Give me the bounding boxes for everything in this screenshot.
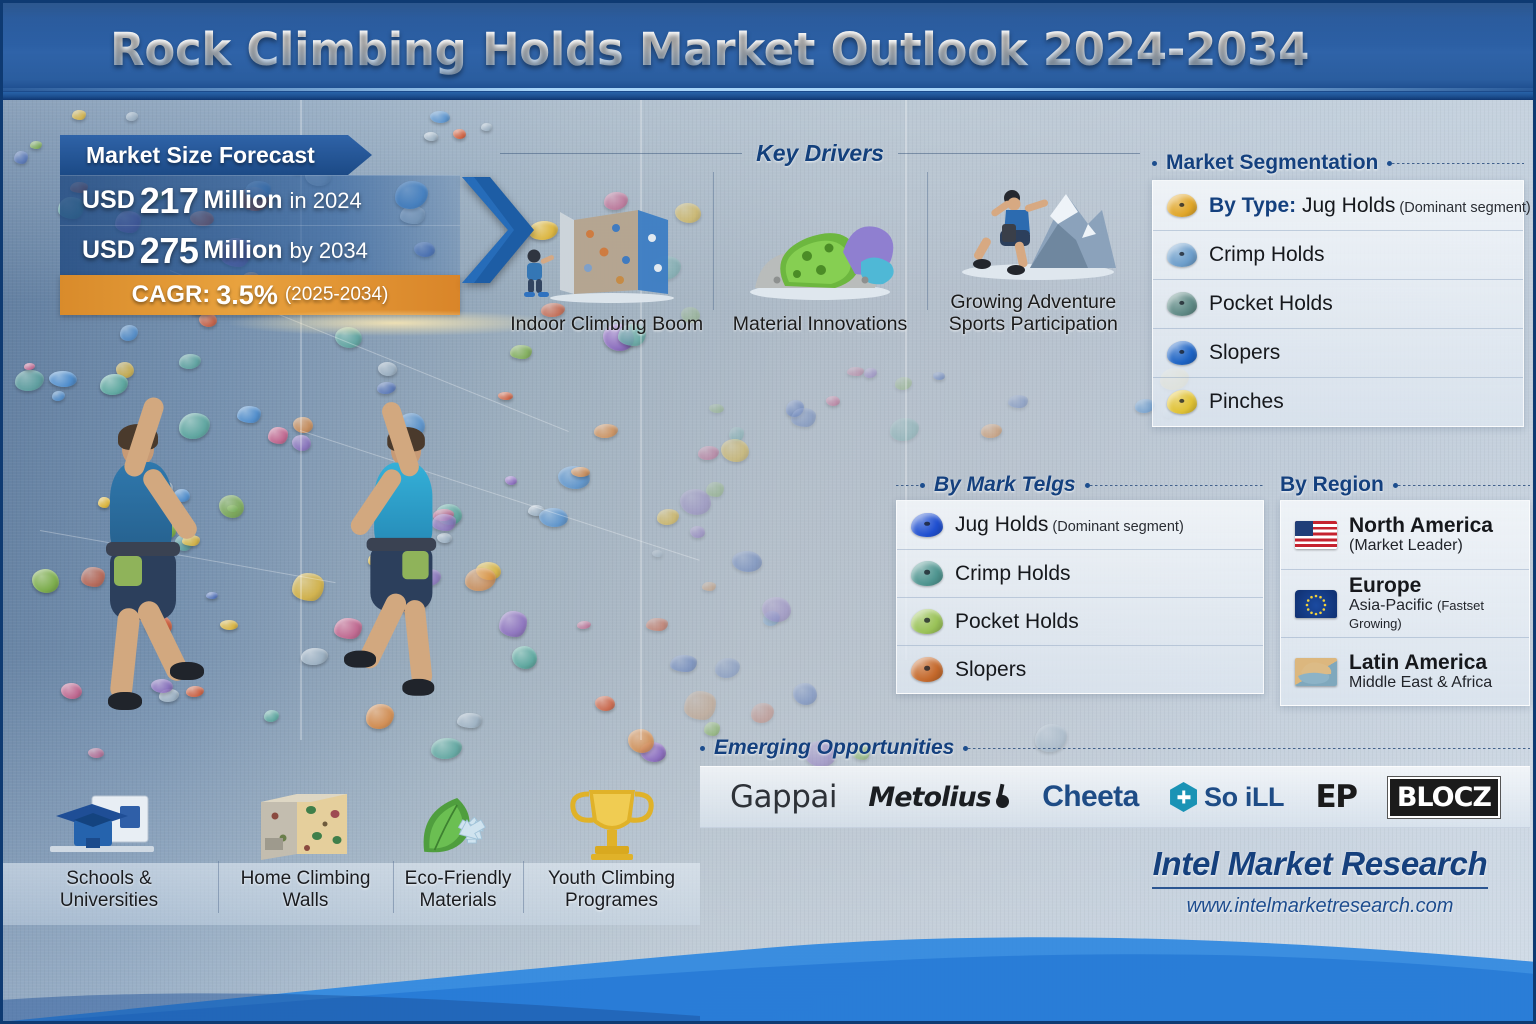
wall-hold — [793, 683, 817, 705]
climber-on-rock-icon — [938, 172, 1128, 288]
wall-hold — [690, 526, 705, 538]
wall-hold — [237, 406, 261, 423]
wall-hold — [762, 597, 791, 622]
dotted-rule — [1090, 485, 1264, 486]
wall-hold — [706, 482, 724, 497]
segmentation-row[interactable]: Pocket Holds — [1153, 279, 1523, 328]
logo-gappai[interactable]: Gappai — [730, 779, 837, 815]
region-subtitle: Middle East & Africa — [1349, 674, 1492, 692]
segmentation-row-label: Pinches — [1209, 390, 1284, 414]
wall-hold — [505, 476, 517, 485]
application-item-2: Home ClimbingWalls — [218, 775, 393, 925]
wall-hold — [378, 362, 397, 376]
mark-telgs-row[interactable]: Crimp Holds — [897, 549, 1263, 597]
value-2024: 217 — [140, 180, 199, 222]
region-name: North America — [1349, 514, 1493, 537]
brand-name: Intel Market Research — [1140, 845, 1500, 883]
mark-telgs-title: By Mark Telgs — [925, 473, 1085, 497]
climber-figure — [70, 390, 230, 720]
wall-hold — [709, 404, 724, 413]
key-drivers-title: Key Drivers — [742, 140, 898, 167]
application-item-3: Eco-FriendlyMaterials — [393, 775, 523, 925]
sloper-hold-icon — [1167, 341, 1197, 364]
key-driver-label: Material Innovations — [733, 314, 908, 336]
region-title: By Region — [1280, 473, 1393, 497]
logo-metolius[interactable]: Metolius — [868, 782, 1010, 813]
market-segmentation-panel: Market Segmentation By Type: Jug Holds (… — [1152, 148, 1524, 427]
wall-hold — [826, 396, 840, 406]
currency-label: USD — [82, 186, 135, 215]
emerging-title: Emerging Opportunities — [705, 736, 963, 760]
wall-hold — [732, 551, 762, 572]
mark-telgs-row-label: Jug Holds (Dominant segment) — [955, 513, 1184, 537]
jug-hold-icon — [911, 513, 943, 538]
wall-hold — [481, 123, 492, 131]
key-drivers-header: Key Drivers — [500, 140, 1140, 166]
pocket-hold-icon — [1167, 292, 1197, 315]
wall-hold — [512, 646, 537, 669]
bottom-wave-decoration — [0, 904, 1536, 1024]
wall-hold — [499, 611, 527, 637]
region-subtitle: (Market Leader) — [1349, 537, 1493, 555]
mark-telgs-row-label: Pocket Holds — [955, 610, 1079, 634]
region-row[interactable]: Latin AmericaMiddle East & Africa — [1281, 637, 1529, 705]
region-rows: North America(Market Leader)EuropeAsia-P… — [1280, 500, 1530, 706]
region-row[interactable]: North America(Market Leader) — [1281, 501, 1529, 569]
segmentation-row-label: Slopers — [1209, 341, 1280, 365]
segmentation-row[interactable]: Crimp Holds — [1153, 230, 1523, 279]
year-2024: in 2024 — [290, 188, 362, 214]
key-driver-item-1: Indoor Climbing Boom — [500, 166, 713, 340]
dotted-rule — [968, 748, 1530, 749]
key-driver-item-2: Material Innovations — [713, 166, 926, 340]
cagr-value: 3.5% — [216, 280, 278, 311]
by-mark-telgs-panel: By Mark Telgs Jug Holds (Dominant segmen… — [896, 470, 1264, 694]
unit-label: Million — [203, 236, 282, 265]
page-title: Rock Climbing Holds Market Outlook 2024-… — [110, 23, 1309, 76]
brand-logo-strip: GappaiMetoliusCheetaSo iLLEPBLOCZ — [700, 766, 1530, 828]
climber-figure — [320, 395, 470, 705]
logo-cheeta[interactable]: Cheeta — [1042, 780, 1138, 814]
wall-hold — [595, 696, 615, 711]
wall-hold — [498, 392, 513, 400]
soill-hex-icon — [1170, 782, 1197, 812]
wall-hold — [847, 367, 864, 376]
mark-telgs-row-note: (Dominant segment) — [1048, 519, 1183, 535]
region-name: Europe — [1349, 574, 1515, 597]
wall-hold — [933, 372, 945, 380]
dotted-rule-left — [896, 485, 920, 486]
logo-text: BLOCZ — [1388, 777, 1500, 818]
sloper-hold-icon — [911, 657, 943, 682]
by-region-panel: By Region North America(Market Leader)Eu… — [1280, 470, 1530, 706]
mark-telgs-row[interactable]: Pocket Holds — [897, 597, 1263, 645]
pocket-hold-icon — [911, 609, 943, 634]
wall-hold — [14, 151, 28, 164]
logo-text: Metolius — [868, 782, 990, 813]
mark-telgs-header: By Mark Telgs — [896, 470, 1264, 500]
segmentation-header: Market Segmentation — [1152, 148, 1524, 178]
region-name: Latin America — [1349, 651, 1492, 674]
colored-hold-cluster-icon — [725, 194, 915, 310]
segmentation-rows: By Type: Jug Holds (Dominant segment)Cri… — [1152, 180, 1524, 427]
emerging-opportunities-panel: Emerging Opportunities GappaiMetoliusChe… — [700, 733, 1530, 828]
jug-hold-icon — [1167, 194, 1197, 217]
dotted-rule — [1392, 163, 1524, 164]
mark-telgs-row[interactable]: Slopers — [897, 645, 1263, 693]
logo-text: Gappai — [730, 779, 837, 815]
mark-telgs-row[interactable]: Jug Holds (Dominant segment) — [897, 501, 1263, 549]
market-size-tab: Market Size Forecast — [60, 135, 372, 175]
region-row[interactable]: EuropeAsia-Pacific (Fastset Growing) — [1281, 569, 1529, 637]
market-size-forecast-panel: Market Size Forecast USD 217 Million in … — [60, 135, 460, 315]
applications-strip: Schools &Universities Home ClimbingWalls… — [0, 775, 700, 925]
leaf-recycle-icon — [393, 780, 523, 868]
key-driver-label: Growing AdventureSports Participation — [949, 292, 1118, 336]
header-bar: Rock Climbing Holds Market Outlook 2024-… — [0, 0, 1536, 100]
metolius-mark-icon — [994, 784, 1011, 810]
mark-telgs-rows: Jug Holds (Dominant segment)Crimp HoldsP… — [896, 500, 1264, 694]
wall-hold — [457, 713, 482, 728]
wall-hold — [30, 141, 42, 149]
wall-hold — [1008, 395, 1028, 408]
wall-hold — [702, 582, 716, 591]
wall-hold — [49, 371, 77, 387]
cagr-label: CAGR: — [132, 281, 211, 309]
wall-hold — [430, 111, 450, 123]
wall-hold — [510, 345, 532, 359]
rule-left — [500, 153, 742, 154]
region-text: EuropeAsia-Pacific (Fastset Growing) — [1349, 574, 1515, 634]
logo-text: Cheeta — [1042, 780, 1138, 814]
wall-hold — [72, 110, 86, 120]
crimp-hold-icon — [911, 561, 943, 586]
currency-label: USD — [82, 236, 135, 265]
emerging-header: Emerging Opportunities — [700, 733, 1530, 763]
year-2034: by 2034 — [290, 238, 368, 264]
trophy-icon — [523, 780, 700, 868]
wall-hold — [652, 550, 663, 557]
logo-blocz[interactable]: BLOCZ — [1388, 777, 1500, 818]
wall-hold — [199, 313, 217, 327]
segmentation-row-label: By Type: Jug Holds (Dominant segment) — [1209, 194, 1531, 218]
mark-telgs-row-label: Slopers — [955, 658, 1026, 682]
key-driver-item-3: Growing AdventureSports Participation — [927, 166, 1140, 340]
crimp-hold-icon — [1167, 243, 1197, 266]
cagr-banner: CAGR: 3.5% (2025-2034) — [60, 275, 460, 315]
logo-ep[interactable]: EP — [1316, 779, 1357, 815]
segmentation-row[interactable]: By Type: Jug Holds (Dominant segment) — [1153, 181, 1523, 230]
cagr-period: (2025-2034) — [285, 284, 389, 306]
market-size-row-2024: USD 217 Million in 2024 — [60, 175, 460, 225]
region-header: By Region — [1280, 470, 1530, 500]
wall-hold — [539, 508, 568, 527]
home-wall-cube-icon — [218, 780, 393, 868]
wall-hold — [571, 467, 590, 477]
application-item-4: Youth ClimbingProgrames — [523, 775, 700, 925]
segmentation-row[interactable]: Pinches — [1153, 377, 1523, 426]
wall-hold — [88, 748, 104, 758]
key-driver-label: Indoor Climbing Boom — [510, 314, 703, 336]
key-drivers-panel: Key Drivers Indoor Climbing Boom — [500, 140, 1140, 340]
wall-hold — [721, 439, 749, 462]
segmentation-row-note: (Dominant segment) — [1395, 200, 1530, 216]
region-subtitle: Asia-Pacific (Fastset Growing) — [1349, 597, 1515, 634]
wall-hold — [268, 427, 288, 444]
segmentation-row[interactable]: Slopers — [1153, 328, 1523, 377]
unit-label: Million — [203, 186, 282, 215]
region-text: North America(Market Leader) — [1349, 514, 1493, 555]
segmentation-row-label: Pocket Holds — [1209, 292, 1333, 316]
application-columns: Schools &Universities Home ClimbingWalls… — [0, 775, 700, 925]
wall-hold — [670, 655, 697, 672]
region-text: Latin AmericaMiddle East & Africa — [1349, 651, 1492, 692]
rule-right — [898, 153, 1140, 154]
market-size-tab-label: Market Size Forecast — [86, 142, 315, 169]
dotted-rule — [1398, 485, 1530, 486]
latin-america-icon — [1295, 658, 1337, 686]
wall-hold — [646, 618, 668, 631]
us-flag-icon — [1295, 521, 1337, 549]
graduation-monitor-icon — [0, 780, 218, 868]
mark-telgs-row-label: Crimp Holds — [955, 562, 1071, 586]
wall-hold — [791, 408, 816, 427]
logo-text: EP — [1316, 779, 1357, 815]
brand-divider — [1152, 887, 1488, 889]
market-size-row-2034: USD 275 Million by 2034 — [60, 225, 460, 275]
eu-flag-icon — [1295, 590, 1337, 618]
climbing-wall-panel-icon — [512, 194, 702, 310]
value-2034: 275 — [140, 230, 199, 272]
logo-soill[interactable]: So iLL — [1170, 782, 1284, 813]
segmentation-row-label: Crimp Holds — [1209, 243, 1325, 267]
wall-hold — [32, 569, 59, 593]
logo-text: So iLL — [1204, 782, 1284, 813]
application-item-1: Schools &Universities — [0, 775, 218, 925]
key-drivers-columns: Indoor Climbing Boom Material Innovation… — [500, 166, 1140, 340]
pinch-hold-icon — [1167, 390, 1197, 413]
wall-hold — [684, 691, 716, 720]
segmentation-title: Market Segmentation — [1157, 151, 1387, 175]
